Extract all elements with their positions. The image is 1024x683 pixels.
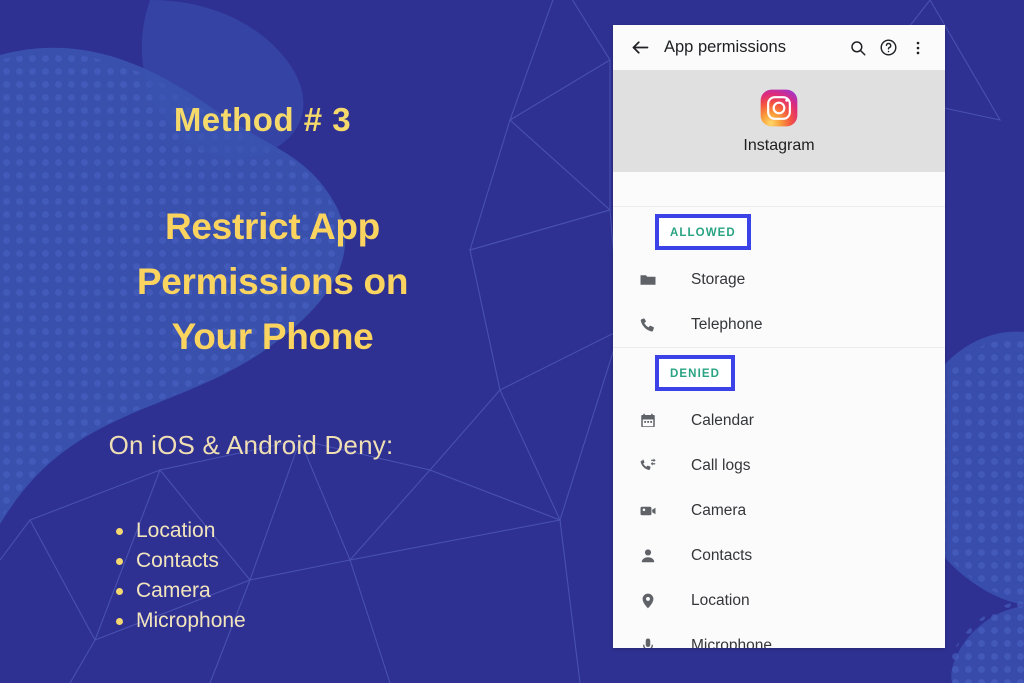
slide-content: Method # 3 Restrict App Permissions on Y… bbox=[0, 0, 600, 683]
list-item[interactable]: Camera bbox=[613, 488, 945, 533]
more-vertical-icon[interactable] bbox=[903, 33, 933, 63]
instagram-icon bbox=[759, 88, 799, 128]
list-item: Location bbox=[108, 516, 468, 546]
camera-icon bbox=[637, 500, 659, 522]
status-badge-allowed-label: ALLOWED bbox=[670, 227, 736, 239]
app-bar: App permissions bbox=[613, 25, 945, 70]
microphone-icon bbox=[637, 635, 659, 649]
list-item-label: Calendar bbox=[691, 412, 754, 430]
page-title: Restrict App Permissions on Your Phone bbox=[0, 200, 545, 364]
calendar-icon bbox=[637, 410, 659, 432]
arrow-left-icon[interactable] bbox=[627, 35, 653, 61]
deny-list: Location Contacts Camera Microphone bbox=[108, 516, 468, 636]
method-label: Method # 3 bbox=[0, 101, 525, 139]
list-item-label: Microphone bbox=[691, 637, 772, 649]
panel-spacer bbox=[613, 172, 945, 207]
list-item[interactable]: Call logs bbox=[613, 443, 945, 488]
phone-icon bbox=[637, 314, 659, 336]
status-badge-allowed: ALLOWED bbox=[655, 214, 751, 250]
section-header-allowed: ALLOWED bbox=[613, 207, 945, 257]
list-item-label: Telephone bbox=[691, 316, 763, 334]
list-item-label: Location bbox=[691, 592, 750, 610]
list-item-label: Contacts bbox=[691, 547, 752, 565]
headline-line-1: Restrict App bbox=[0, 200, 545, 255]
list-item[interactable]: Microphone bbox=[613, 623, 945, 648]
folder-icon bbox=[637, 269, 659, 291]
page-title: App permissions bbox=[664, 38, 843, 57]
app-permissions-panel: App permissions bbox=[613, 25, 945, 648]
list-item-label: Call logs bbox=[691, 457, 750, 475]
list-item[interactable]: Storage bbox=[613, 257, 945, 302]
list-item[interactable]: Location bbox=[613, 578, 945, 623]
list-item-label: Storage bbox=[691, 271, 745, 289]
list-item[interactable]: Calendar bbox=[613, 398, 945, 443]
help-circle-icon[interactable] bbox=[873, 33, 903, 63]
app-header: Instagram bbox=[613, 70, 945, 172]
app-name: Instagram bbox=[743, 137, 814, 155]
status-badge-denied: DENIED bbox=[655, 355, 735, 391]
list-item[interactable]: Telephone bbox=[613, 302, 945, 347]
headline-line-2: Permissions on bbox=[0, 255, 545, 310]
list-item: Contacts bbox=[108, 546, 468, 576]
list-item-label: Camera bbox=[691, 502, 746, 520]
list-item: Microphone bbox=[108, 606, 468, 636]
contacts-icon bbox=[637, 545, 659, 567]
call-log-icon bbox=[637, 455, 659, 477]
section-header-denied: DENIED bbox=[613, 348, 945, 398]
list-item[interactable]: Contacts bbox=[613, 533, 945, 578]
search-icon[interactable] bbox=[843, 33, 873, 63]
subheading: On iOS & Android Deny: bbox=[0, 430, 502, 461]
headline-line-3: Your Phone bbox=[0, 310, 545, 365]
list-item: Camera bbox=[108, 576, 468, 606]
status-badge-denied-label: DENIED bbox=[670, 368, 720, 380]
location-pin-icon bbox=[637, 590, 659, 612]
